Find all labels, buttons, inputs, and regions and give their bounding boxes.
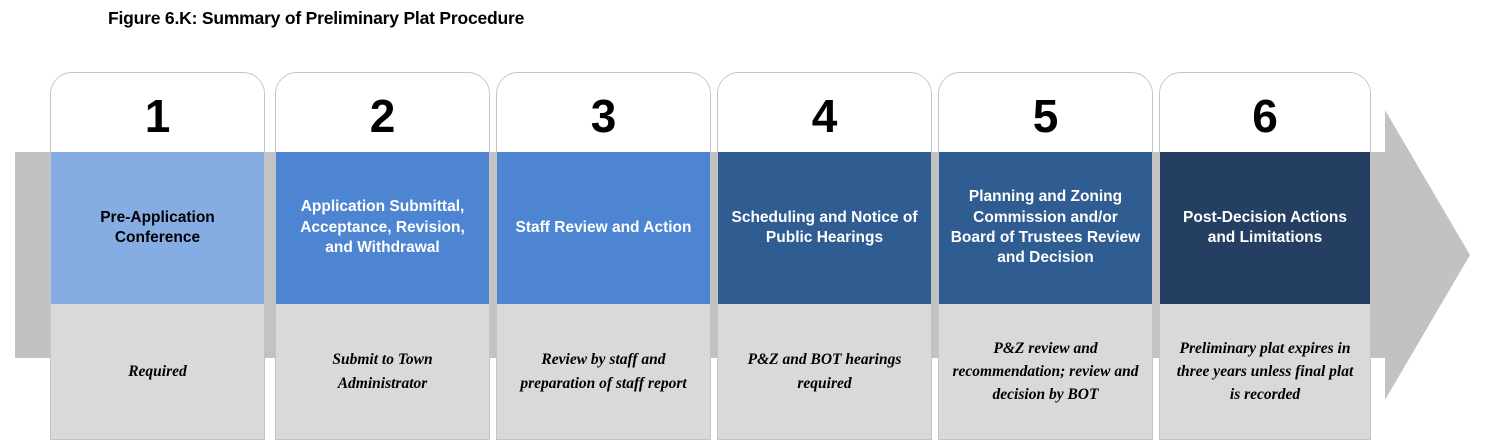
step-note-3: Review by staff and preparation of staff…: [497, 304, 710, 439]
step-label-6: Post-Decision Actions and Limitations: [1160, 152, 1370, 304]
step-note-5: P&Z review and recommendation; review an…: [939, 304, 1152, 439]
step-number-2: 2: [276, 73, 489, 152]
step-card-5[interactable]: 5 Planning and Zoning Commission and/or …: [938, 72, 1153, 440]
step-card-1[interactable]: 1 Pre-Application Conference Required: [50, 72, 265, 440]
step-card-6[interactable]: 6 Post-Decision Actions and Limitations …: [1159, 72, 1371, 440]
step-note-4: P&Z and BOT hearings required: [718, 304, 931, 439]
step-note-2: Submit to Town Administrator: [276, 304, 489, 439]
step-label-5: Planning and Zoning Commission and/or Bo…: [939, 152, 1152, 304]
figure-container: Figure 6.K: Summary of Preliminary Plat …: [0, 0, 1498, 445]
process-steps-row: 1 Pre-Application Conference Required 2 …: [0, 0, 1498, 445]
step-number-1: 1: [51, 73, 264, 152]
step-note-6: Preliminary plat expires in three years …: [1160, 304, 1370, 439]
step-card-2[interactable]: 2 Application Submittal, Acceptance, Rev…: [275, 72, 490, 440]
step-card-4[interactable]: 4 Scheduling and Notice of Public Hearin…: [717, 72, 932, 440]
step-label-4: Scheduling and Notice of Public Hearings: [718, 152, 931, 304]
step-note-1: Required: [51, 304, 264, 439]
step-label-2: Application Submittal, Acceptance, Revis…: [276, 152, 489, 304]
step-number-4: 4: [718, 73, 931, 152]
step-number-5: 5: [939, 73, 1152, 152]
step-number-6: 6: [1160, 73, 1370, 152]
step-label-3: Staff Review and Action: [497, 152, 710, 304]
step-label-1: Pre-Application Conference: [51, 152, 264, 304]
step-card-3[interactable]: 3 Staff Review and Action Review by staf…: [496, 72, 711, 440]
step-number-3: 3: [497, 73, 710, 152]
